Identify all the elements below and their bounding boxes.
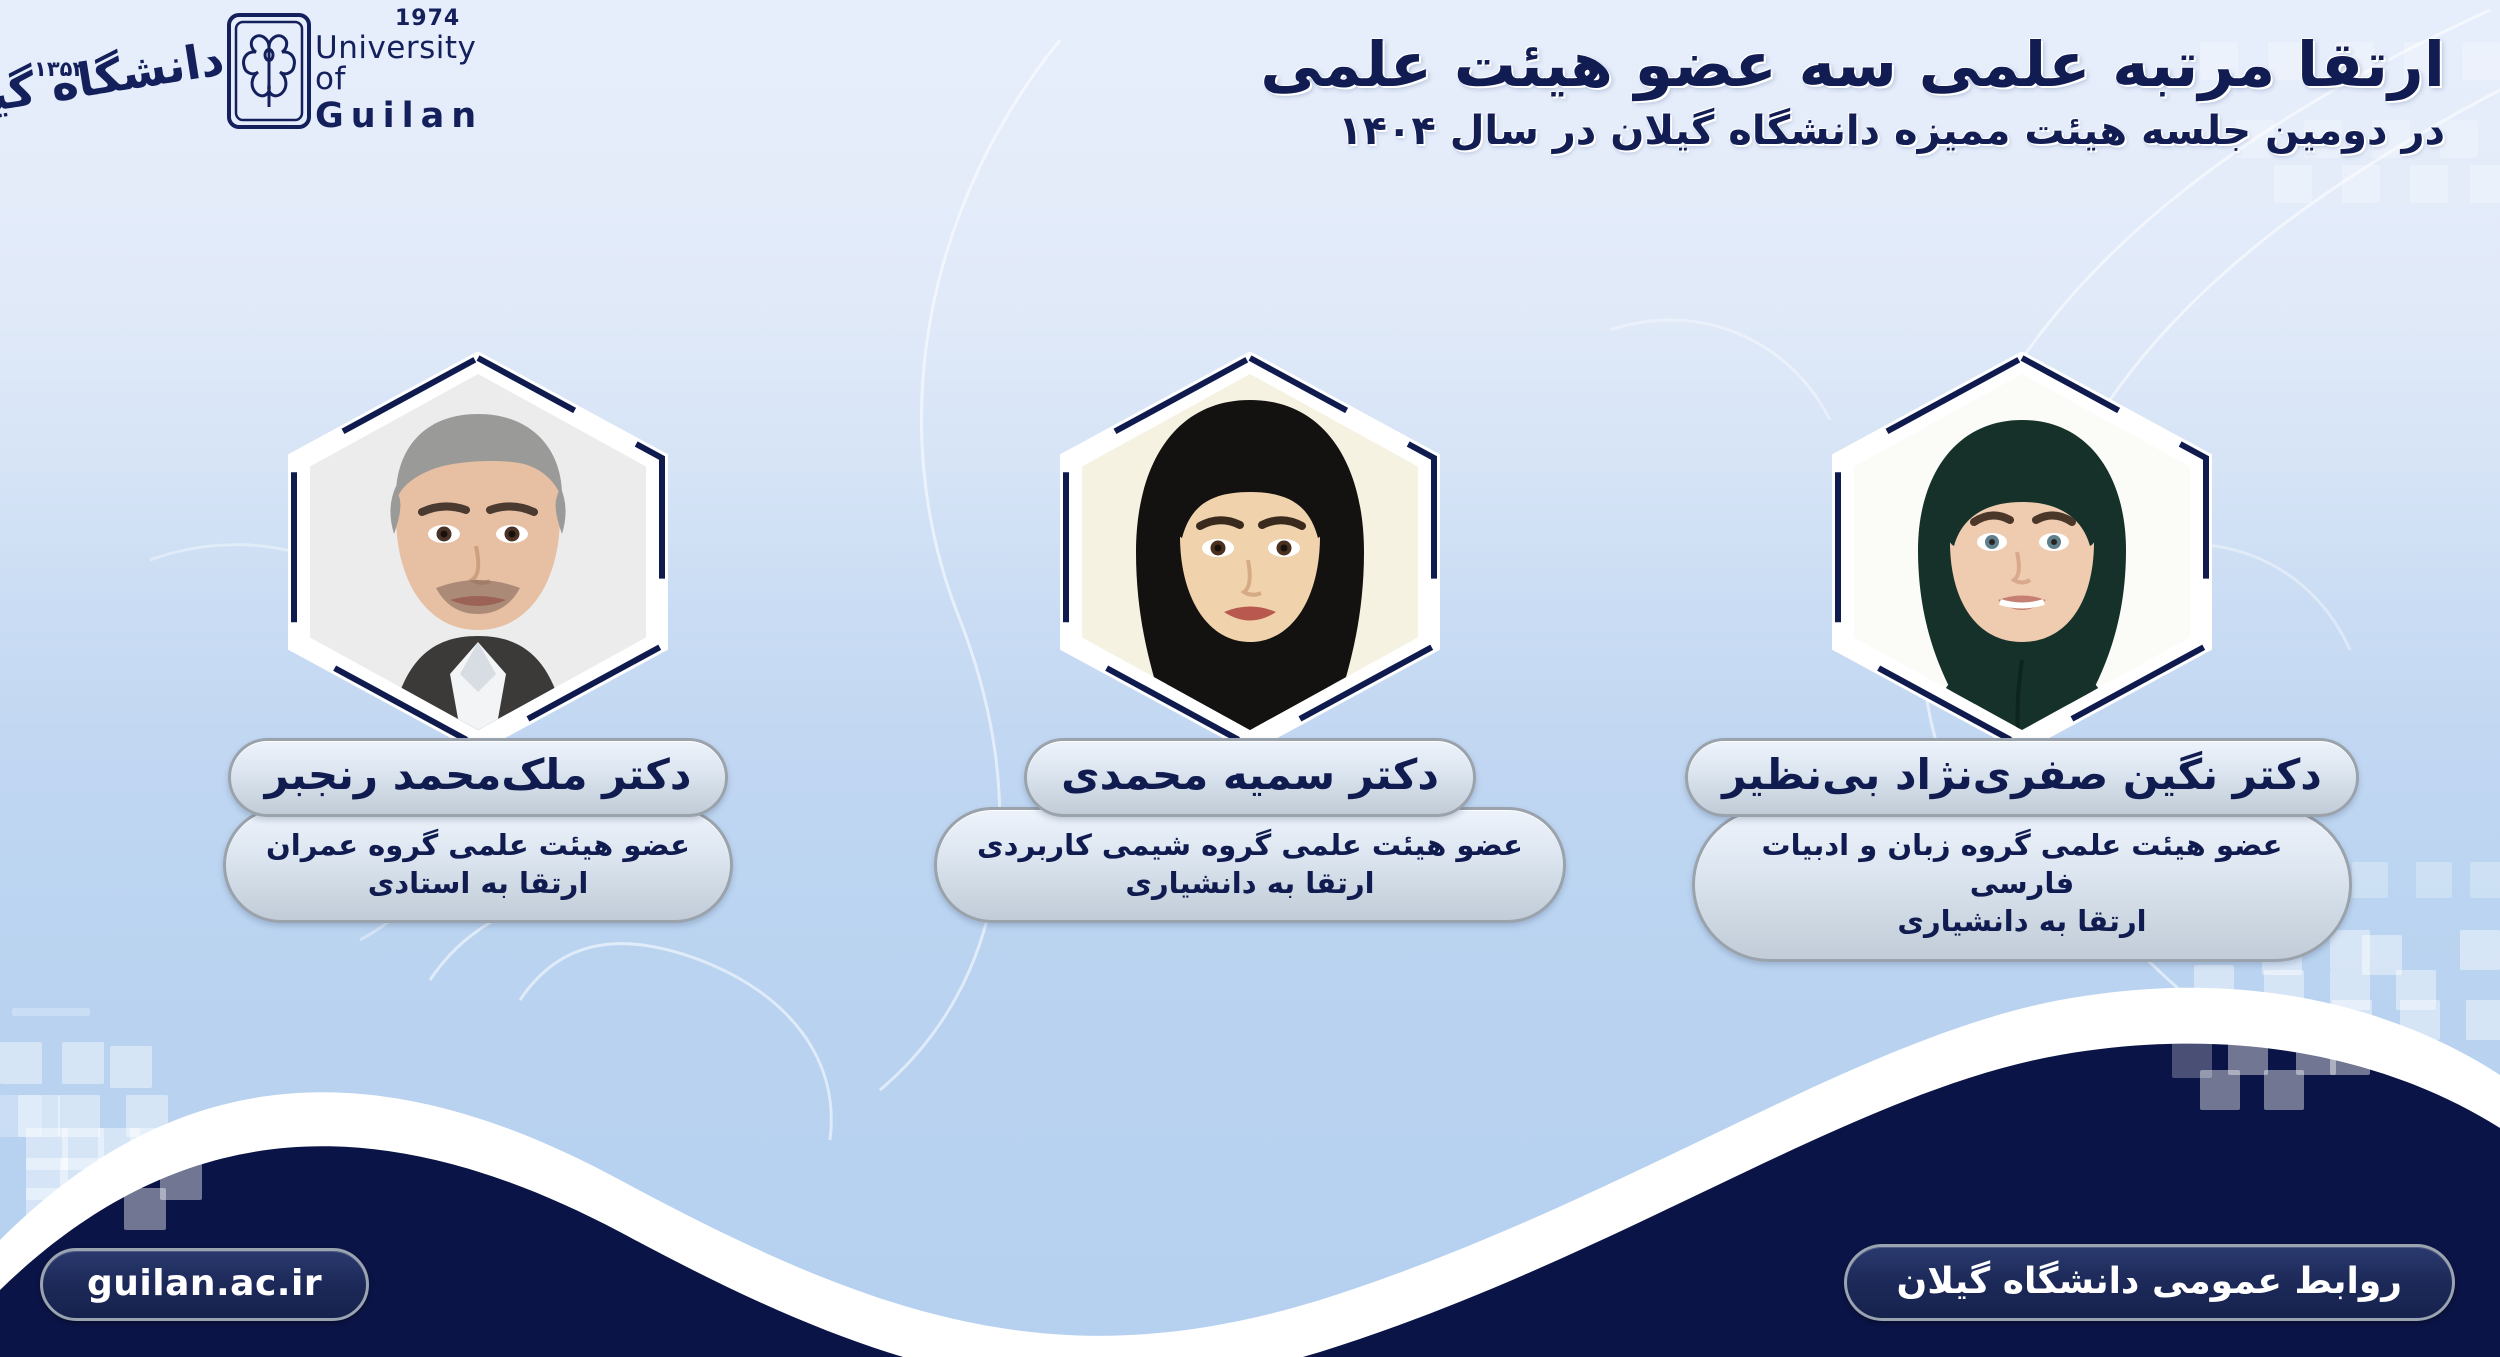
faculty-list: دکتر نگین صفری‌نژاد بی‌نظیر عضو هیئت علم… (0, 352, 2500, 962)
faculty-department: عضو هیئت علمی گروه زبان و ادبیات فارسی (1735, 826, 2309, 903)
faculty-role: عضو هیئت علمی گروه عمران ارتقا به استادی (223, 807, 733, 924)
faculty-name: دکتر سمیه محمدی (1024, 738, 1476, 817)
logo-english-text: 1974 University of Guilan (315, 8, 490, 134)
faculty-card: دکتر نگین صفری‌نژاد بی‌نظیر عضو هیئت علم… (1692, 352, 2352, 962)
faculty-promotion: ارتقا به دانشیاری (1735, 902, 2309, 940)
photo-frame (1832, 352, 2212, 752)
public-relations-badge: روابط عمومی دانشگاه گیلان (1844, 1244, 2455, 1321)
faculty-role: عضو هیئت علمی گروه زبان و ادبیات فارسی ا… (1692, 807, 2352, 962)
logo-university-word: University of (315, 33, 490, 95)
page-title: ارتقا مرتبه علمی سه عضو هیئت علمی (1260, 30, 2445, 99)
faculty-department: عضو هیئت علمی گروه عمران (266, 826, 690, 864)
faculty-promotion: ارتقا به دانشیاری (977, 864, 1523, 902)
logo-year-english: 1974 (395, 8, 490, 30)
logo-persian-text: ۱۳۵۳ دانشگاه گیلان (28, 11, 223, 131)
photo-frame (1060, 352, 1440, 752)
website-badge[interactable]: guilan.ac.ir (40, 1248, 369, 1321)
faculty-name: دکتر نگین صفری‌نژاد بی‌نظیر (1685, 738, 2359, 817)
faculty-card: دکتر ملک‌محمد رنجبر عضو هیئت علمی گروه ع… (148, 352, 808, 923)
guilan-university-emblem-icon (223, 11, 315, 131)
faculty-promotion: ارتقا به استادی (266, 864, 690, 902)
faculty-name: دکتر ملک‌محمد رنجبر (228, 738, 729, 817)
logo-university-persian: دانشگاه گیلان (0, 31, 227, 133)
page-subtitle: در دومین جلسه هیئت ممیزه دانشگاه گیلان د… (1260, 107, 2445, 155)
faculty-role: عضو هیئت علمی گروه شیمی کاربردی ارتقا به… (934, 807, 1566, 924)
university-logo: 1974 University of Guilan ۱۳۵۳ دانشگاه گ… (20, 8, 490, 133)
poster-canvas: 1974 University of Guilan ۱۳۵۳ دانشگاه گ… (0, 0, 2500, 1357)
faculty-department: عضو هیئت علمی گروه شیمی کاربردی (977, 826, 1523, 864)
photo-frame (288, 352, 668, 752)
logo-guilan-word: Guilan (315, 99, 490, 134)
faculty-card: دکتر سمیه محمدی عضو هیئت علمی گروه شیمی … (920, 352, 1580, 923)
header-text-block: ارتقا مرتبه علمی سه عضو هیئت علمی در دوم… (1260, 30, 2445, 155)
